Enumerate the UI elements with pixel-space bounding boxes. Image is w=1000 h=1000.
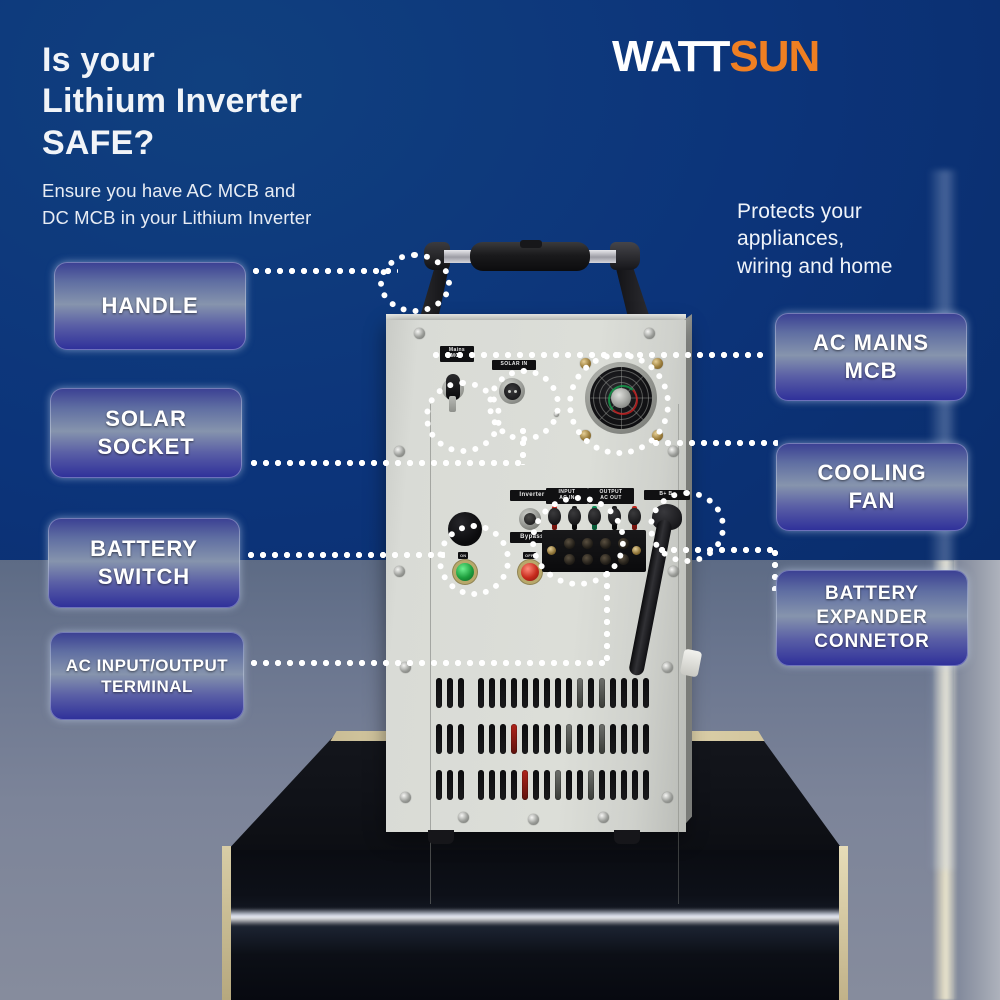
- callout-ac-terminal-line-2: TERMINAL: [101, 676, 193, 697]
- brand-logo: WATTSUN: [612, 32, 819, 82]
- callout-cooling-fan-line-1: COOLING: [818, 459, 927, 487]
- ventilation-grille: [436, 678, 662, 816]
- callout-battery-expander[interactable]: BATTERY EXPANDER CONNETOR: [776, 570, 968, 666]
- handle-nub: [520, 240, 542, 248]
- chassis-seam-right: [678, 404, 679, 904]
- callout-cooling-fan-line-2: FAN: [849, 487, 896, 515]
- infographic-canvas: Mains MCB SOLAR IN: [0, 0, 1000, 1000]
- callout-solar-socket-line-1: SOLAR: [105, 405, 187, 433]
- headline-line-2: Lithium Inverter: [42, 81, 512, 122]
- protects-line-2: appliances,: [737, 225, 987, 252]
- callout-handle[interactable]: HANDLE: [54, 262, 246, 350]
- callout-solar-socket[interactable]: SOLAR SOCKET: [50, 388, 242, 478]
- highlight-ring-battery-expander: [648, 490, 726, 564]
- highlight-ring-mains-mcb: [424, 380, 502, 454]
- table-light-reflection: [228, 908, 844, 926]
- logo-sun: SUN: [729, 32, 819, 81]
- subhead-line-2: DC MCB in your Lithium Inverter: [42, 205, 472, 232]
- callout-ac-mains-mcb-line-2: MCB: [845, 357, 898, 385]
- callout-battery-expander-line-1: BATTERY: [825, 582, 919, 606]
- chassis-screw: [400, 792, 411, 803]
- callout-ac-mains-mcb[interactable]: AC MAINS MCB: [775, 313, 967, 401]
- highlight-ring-battery-switch: [437, 523, 511, 597]
- device-foot: [428, 830, 454, 844]
- subhead-line-1: Ensure you have AC MCB and: [42, 178, 472, 205]
- connector-ac-terminal-vert: [604, 568, 610, 664]
- callout-battery-switch-line-2: SWITCH: [98, 563, 190, 591]
- chassis-screw: [662, 662, 673, 673]
- page-title: Is your Lithium Inverter SAFE?: [42, 40, 512, 164]
- callout-solar-socket-line-2: SOCKET: [97, 433, 194, 461]
- highlight-ring-handle: [378, 252, 452, 314]
- connector-handle: [250, 268, 398, 274]
- chassis-screw: [644, 328, 655, 339]
- chassis-screw: [662, 792, 673, 803]
- off-button[interactable]: [521, 563, 539, 581]
- chassis-screw: [414, 328, 425, 339]
- protects-line-1: Protects your: [737, 198, 987, 225]
- chassis-screw: [394, 446, 405, 457]
- callout-ac-mains-mcb-line-1: AC MAINS: [813, 329, 929, 357]
- callout-battery-expander-line-3: CONNETOR: [814, 630, 930, 654]
- headline-line-1: Is your: [42, 40, 512, 81]
- chassis-seam-left: [430, 404, 431, 904]
- highlight-ring-cooling-fan: [567, 352, 671, 456]
- callout-ac-terminal-line-1: AC INPUT/OUTPUT: [66, 655, 228, 676]
- table-left-trim: [222, 846, 231, 1000]
- connector-battery-switch: [245, 552, 445, 558]
- connector-solar-socket: [248, 460, 526, 466]
- connector-cooling-fan: [650, 440, 778, 446]
- callout-cooling-fan[interactable]: COOLING FAN: [776, 443, 968, 531]
- protects-line-3: wiring and home: [737, 253, 987, 280]
- device-foot: [614, 830, 640, 844]
- highlight-ring-ac-terminal: [530, 495, 626, 587]
- callout-ac-terminal[interactable]: AC INPUT/OUTPUT TERMINAL: [50, 632, 244, 720]
- headline-line-3: SAFE?: [42, 123, 512, 164]
- callout-handle-label: HANDLE: [101, 292, 198, 320]
- chassis-screw: [394, 566, 405, 577]
- connector-ac-terminal: [248, 660, 610, 666]
- chassis-screw: [668, 566, 679, 577]
- logo-watt: WATT: [612, 32, 729, 81]
- callout-battery-switch[interactable]: BATTERY SWITCH: [48, 518, 240, 608]
- callout-battery-expander-line-2: EXPANDER: [816, 606, 927, 630]
- callout-battery-switch-line-1: BATTERY: [90, 535, 198, 563]
- terminal-end-screw: [632, 546, 641, 555]
- chassis-screw: [668, 446, 679, 457]
- protects-text: Protects your appliances, wiring and hom…: [737, 198, 987, 280]
- subheading: Ensure you have AC MCB and DC MCB in you…: [42, 178, 472, 232]
- terminal-lug: [628, 508, 641, 525]
- table-right-trim: [839, 846, 848, 1000]
- handle-chrome-right: [586, 250, 616, 263]
